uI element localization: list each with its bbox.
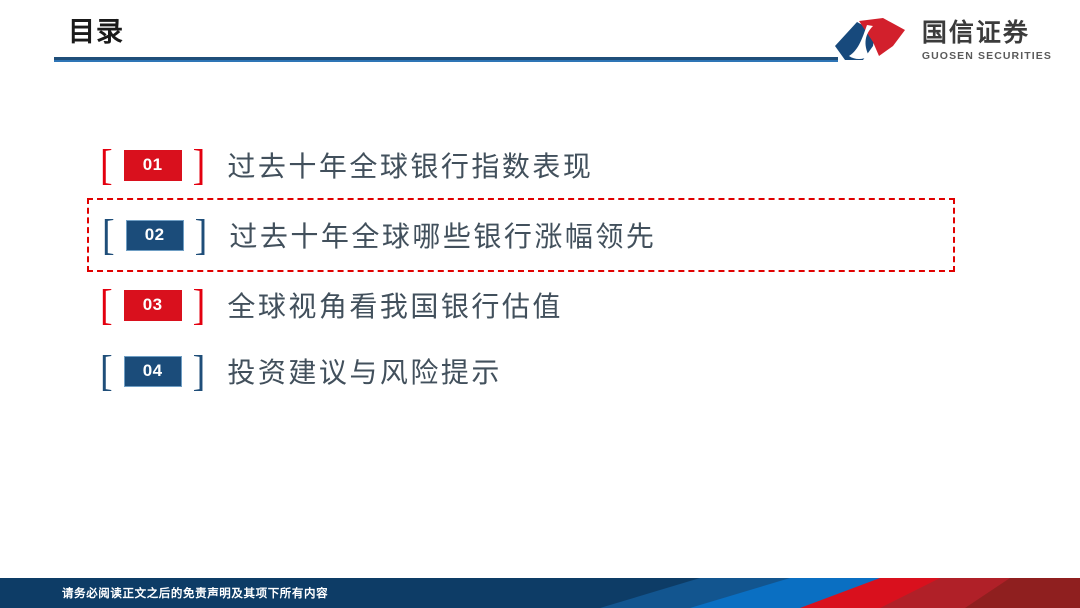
bracket-left-icon: [ — [100, 283, 113, 327]
toc-number-badge: 04 — [124, 356, 182, 387]
bracket-right-icon: ] — [193, 349, 206, 393]
slide-contents: 目录 国信证券 GUOSEN SECURITIES [ 01 ] 过去十年全球银… — [0, 0, 1080, 608]
bracket-right-icon: ] — [195, 213, 208, 257]
toc-item-02[interactable]: [ 02 ] 过去十年全球哪些银行涨幅领先 — [87, 198, 955, 272]
logo-name-en: GUOSEN SECURITIES — [922, 50, 1052, 62]
bracket-left-icon: [ — [100, 349, 113, 393]
footer-disclaimer: 请务必阅读正文之后的免责声明及其项下所有内容 — [62, 585, 328, 601]
bracket-right-icon: ] — [193, 283, 206, 327]
guosen-logo-mark-icon — [833, 16, 913, 64]
title-underline-light — [54, 60, 838, 62]
toc-number-badge: 03 — [124, 290, 182, 321]
brand-logo: 国信证券 GUOSEN SECURITIES — [833, 16, 1052, 64]
page-title: 目录 — [68, 18, 124, 48]
bracket-left-icon: [ — [100, 143, 113, 187]
bracket-right-icon: ] — [193, 143, 206, 187]
toc-item-label: 过去十年全球银行指数表现 — [227, 145, 593, 185]
logo-name-cn: 国信证券 — [922, 20, 1052, 46]
footer-bar: 请务必阅读正文之后的免责声明及其项下所有内容 — [0, 578, 1080, 608]
toc-item-01[interactable]: [ 01 ] 过去十年全球银行指数表现 — [0, 132, 1080, 198]
toc-item-label: 过去十年全球哪些银行涨幅领先 — [229, 215, 656, 255]
table-of-contents: [ 01 ] 过去十年全球银行指数表现 [ 02 ] 过去十年全球哪些银行涨幅领… — [0, 132, 1080, 404]
toc-item-label: 投资建议与风险提示 — [227, 351, 502, 391]
toc-item-label: 全球视角看我国银行估值 — [227, 285, 563, 325]
toc-item-04[interactable]: [ 04 ] 投资建议与风险提示 — [0, 338, 1080, 404]
toc-number-badge: 02 — [126, 220, 184, 251]
bracket-left-icon: [ — [102, 213, 115, 257]
toc-item-03[interactable]: [ 03 ] 全球视角看我国银行估值 — [0, 272, 1080, 338]
toc-number-badge: 01 — [124, 150, 182, 181]
logo-text: 国信证券 GUOSEN SECURITIES — [922, 18, 1052, 61]
